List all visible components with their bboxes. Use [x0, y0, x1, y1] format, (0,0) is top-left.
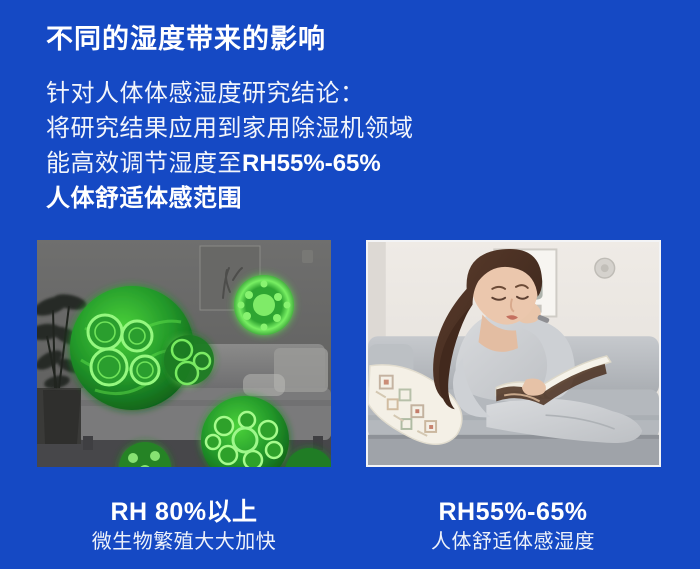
caption-high-humidity: RH 80%以上 微生物繁殖大大加快	[37, 497, 331, 557]
copy-line-1: 针对人体体感湿度研究结论：	[46, 76, 466, 111]
germ-sphere-medium	[234, 275, 294, 335]
copy-line-4: 人体舒适体感范围	[46, 181, 466, 216]
copy-line-2: 将研究结果应用到家用除湿机领域	[46, 111, 466, 146]
copy-line-3-highlight: RH55%-65%	[242, 150, 381, 177]
caption-comfort-humidity: RH55%-65% 人体舒适体感湿度	[366, 497, 660, 557]
poster-canvas: 不同的湿度带来的影响 针对人体体感湿度研究结论： 将研究结果应用到家用除湿机领域…	[0, 0, 700, 569]
caption-sub-comfort-humidity: 人体舒适体感湿度	[366, 528, 660, 557]
high-humidity-illustration	[37, 240, 331, 467]
copy-line-3: 能高效调节湿度至RH55%-65%	[46, 146, 466, 181]
intro-copy: 针对人体体感湿度研究结论： 将研究结果应用到家用除湿机领域 能高效调节湿度至RH…	[46, 76, 466, 216]
photo-high-humidity	[37, 240, 331, 467]
copy-line-3-prefix: 能高效调节湿度至	[46, 150, 242, 177]
caption-title-high-humidity: RH 80%以上	[37, 497, 331, 528]
caption-sub-high-humidity: 微生物繁殖大大加快	[37, 528, 331, 557]
comfort-humidity-illustration	[368, 242, 659, 465]
page-title: 不同的湿度带来的影响	[46, 17, 326, 56]
caption-title-comfort-humidity: RH55%-65%	[366, 497, 660, 528]
photo-comfort-humidity	[366, 240, 661, 467]
